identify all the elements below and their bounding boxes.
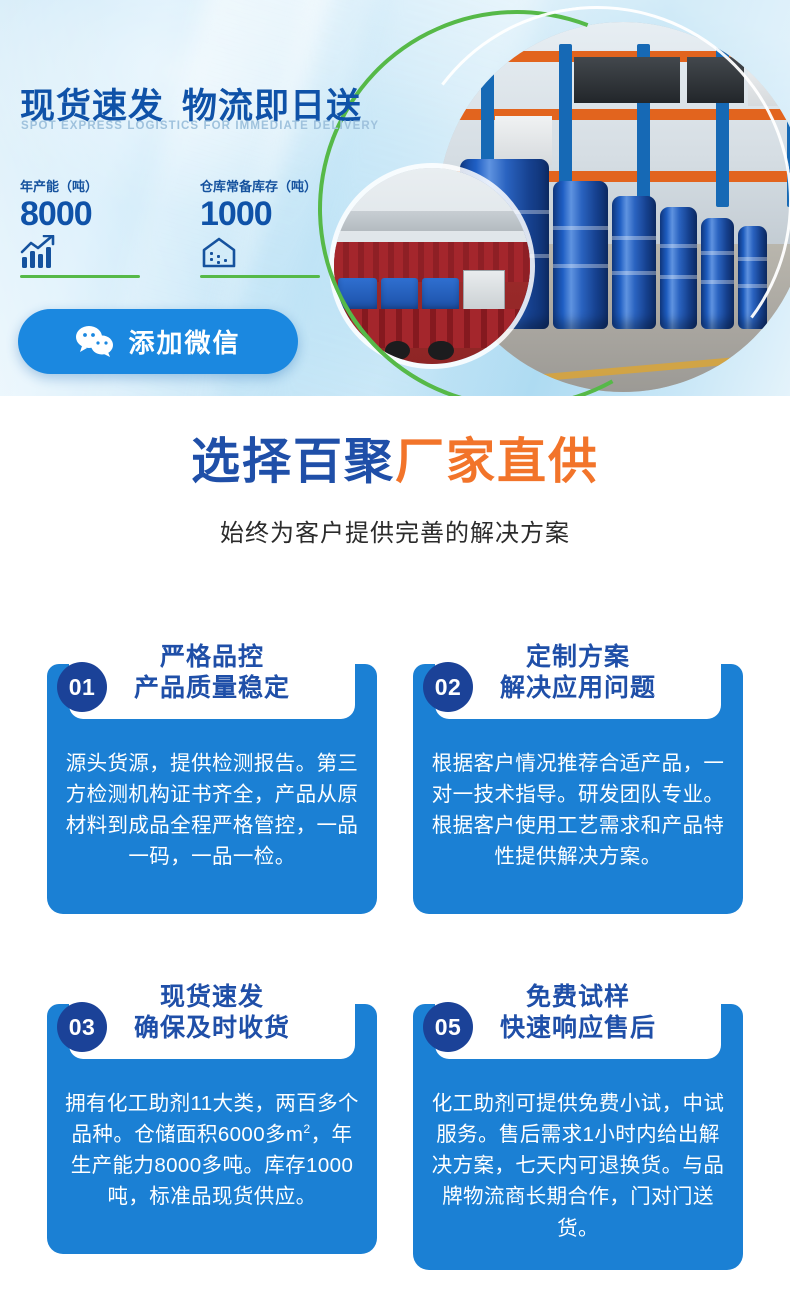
card-heading-line2: 确保及时收货 [79, 1013, 345, 1044]
section-subtitle: 始终为客户提供完善的解决方案 [0, 513, 790, 548]
card-heading-line2: 快速响应售后 [445, 1013, 711, 1044]
card-heading-line2: 解决应用问题 [445, 673, 711, 704]
section-title-blue: 选择百聚 [191, 435, 395, 489]
card-heading-line2: 产品质量稳定 [79, 673, 345, 704]
stat-underline [200, 275, 320, 278]
card-number-badge: 05 [423, 1002, 473, 1052]
section-title: 选择百聚厂家直供 [0, 438, 790, 487]
stat-annual-capacity: 年产能（吨） 8000 [20, 176, 148, 278]
feature-card-01: 源头货源，提供检测报告。第三方检测机构证书齐全，产品从原材料到成品全程严格管控，… [47, 592, 377, 914]
hero-banner: 现货速发物流即日送 SPOT EXPRESS LOGISTICS FOR IMM… [0, 0, 790, 396]
feature-card-03: 拥有化工助剂11大类，两百多个品种。仓储面积6000多m2，年生产能力8000多… [47, 932, 377, 1270]
stat-label: 仓库常备库存（吨） [200, 176, 328, 195]
card-number-badge: 02 [423, 662, 473, 712]
stat-value: 1000 [200, 195, 328, 233]
card-heading-line1: 免费试样 [445, 982, 711, 1013]
feature-card-05: 化工助剂可提供免费小试，中试服务。售后需求1小时内给出解决方案，七天内可退换货。… [413, 932, 743, 1270]
card-heading-line1: 定制方案 [445, 642, 711, 673]
card-description: 化工助剂可提供免费小试，中试服务。售后需求1小时内给出解决方案，七天内可退换货。… [429, 1088, 727, 1244]
feature-card-02: 根据客户情况推荐合适产品，一对一技术指导。研发团队专业。根据客户使用工艺需求和产… [413, 592, 743, 914]
stat-label: 年产能（吨） [20, 176, 148, 195]
card-description: 源头货源，提供检测报告。第三方检测机构证书齐全，产品从原材料到成品全程严格管控，… [63, 748, 361, 873]
card-header: 免费试样 快速响应售后 [435, 956, 721, 1059]
stat-warehouse-stock: 仓库常备库存（吨） 1000 [200, 176, 328, 278]
stat-underline [20, 275, 140, 278]
feature-cards-grid: 源头货源，提供检测报告。第三方检测机构证书齐全，产品从原材料到成品全程严格管控，… [47, 592, 747, 1270]
card-header: 严格品控 产品质量稳定 [69, 616, 355, 719]
growth-chart-icon [20, 233, 148, 269]
stat-value: 8000 [20, 195, 148, 233]
card-number-badge: 03 [57, 1002, 107, 1052]
card-heading-line1: 现货速发 [79, 982, 345, 1013]
card-header: 定制方案 解决应用问题 [435, 616, 721, 719]
card-heading-line1: 严格品控 [79, 642, 345, 673]
warehouse-icon [200, 233, 328, 269]
card-description-superscript: 2 [303, 1122, 310, 1136]
hero-stats: 年产能（吨） 8000 仓库常备库存（吨） 1000 [20, 176, 328, 278]
card-number-badge: 01 [57, 662, 107, 712]
wechat-icon [75, 325, 115, 359]
card-header: 现货速发 确保及时收货 [69, 956, 355, 1059]
add-wechat-button[interactable]: 添加微信 [18, 309, 298, 374]
hero-subtitle-english: SPOT EXPRESS LOGISTICS FOR IMMEDIATE DEL… [21, 120, 379, 132]
add-wechat-label: 添加微信 [128, 323, 240, 360]
card-description: 根据客户情况推荐合适产品，一对一技术指导。研发团队专业。根据客户使用工艺需求和产… [429, 748, 727, 873]
card-description: 拥有化工助剂11大类，两百多个品种。仓储面积6000多m2，年生产能力8000多… [63, 1088, 361, 1213]
section-title-orange: 厂家直供 [395, 435, 599, 489]
